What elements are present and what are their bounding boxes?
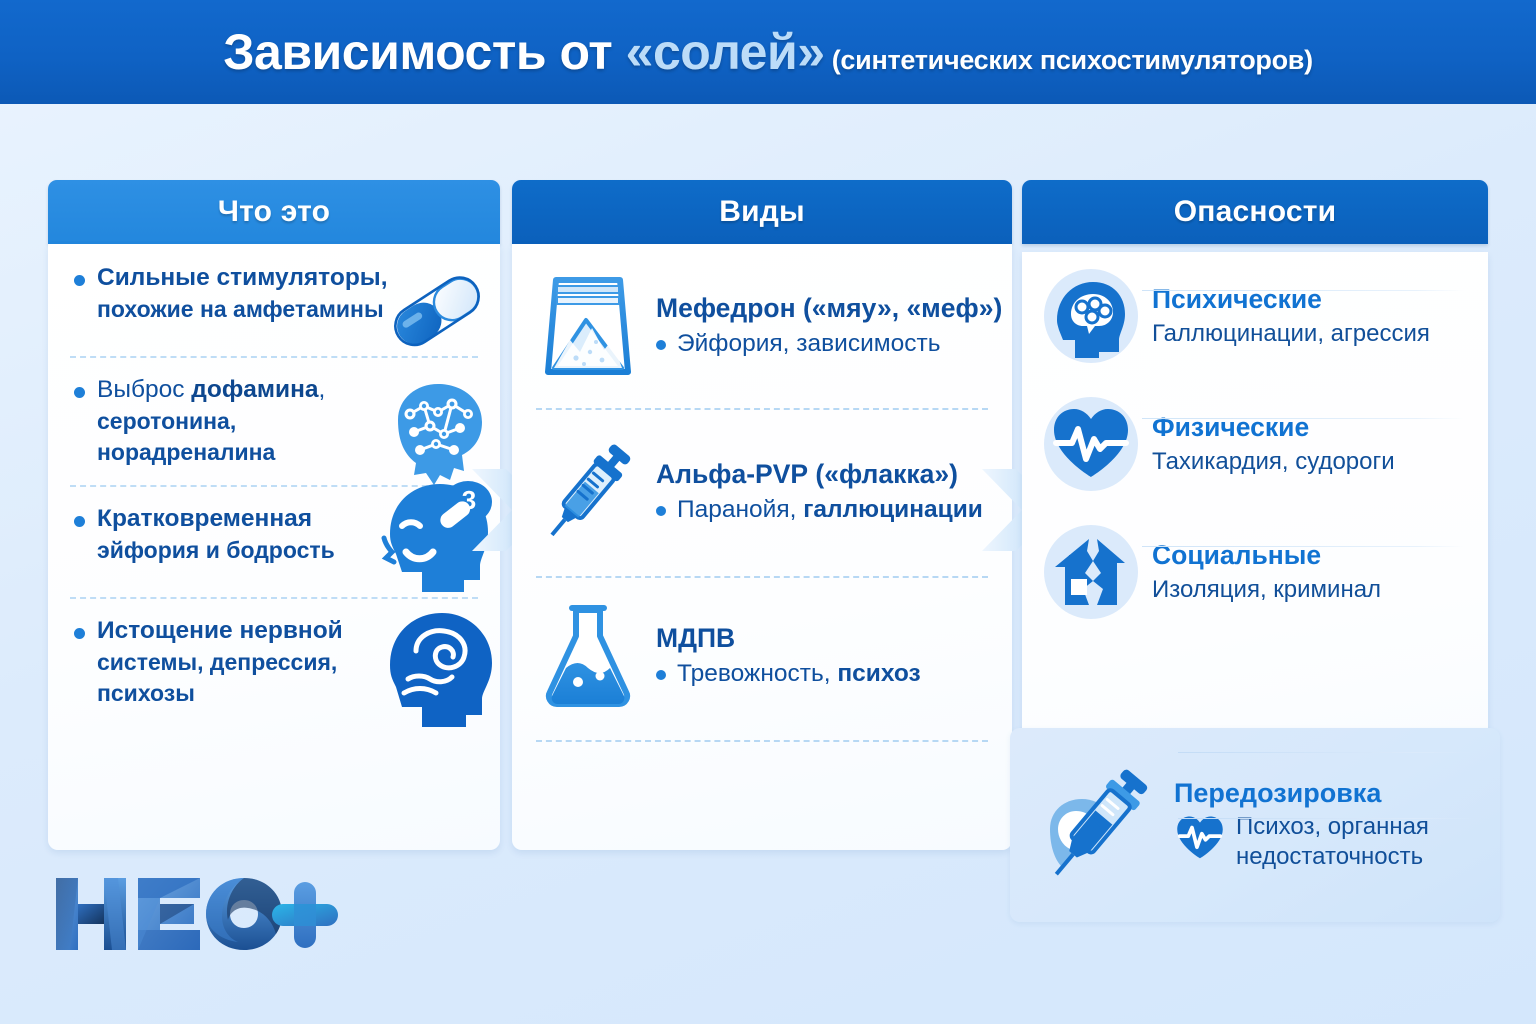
flask-icon [536,602,640,710]
list-item: Кратковременная эйфория и бодрость [48,485,500,597]
page-title: Зависимость от «солей» (синтетических пс… [223,23,1313,81]
list-item: Сильные стимуляторы, похожие на амфетами… [48,244,500,356]
list-item: Истощение нервной системы, депрессия, пс… [48,597,500,726]
title-subtitle-text: (синтетических психостимуляторов) [825,45,1313,75]
risk-description: Изоляция, криминал [1152,575,1468,605]
column-kinds: Виды [512,180,1012,850]
column-body-what-is-it: Сильные стимуляторы, похожие на амфетами… [48,244,500,850]
list-item: Выброс дофамина, серотонина, норадренали… [48,356,500,485]
overdose-panel: Передозировка Психоз, органная недостато… [1010,728,1500,922]
list-item-text: МДПВ Тревожность, психоз [656,623,990,690]
column-header-label: Что это [218,195,330,229]
bullet-dot-icon [74,275,85,286]
list-item-text: Мефедрон («мяу», «меф») Эйфория, зависим… [656,293,1002,360]
risk-description: Тахикардия, судороги [1152,447,1468,477]
kind-effect-prefix: Тревожность, [677,660,837,687]
title-quoted-text: «солей» [626,24,825,80]
list-item-line1: Кратковременная [97,505,312,532]
column-header-kinds: Виды [512,180,1012,244]
overdose-desc-line2: недостаточность [1236,843,1423,870]
bullet-dot-icon [656,506,666,516]
risk-title: Физические [1152,412,1468,443]
bullet-dot-icon [74,387,85,398]
divider [1142,546,1464,547]
kind-name: Альфа-PVP («флакка») [656,459,990,490]
column-header-label: Опасности [1174,195,1337,229]
kind-effect-prefix: Паранойя, [677,496,803,523]
list-item-line2: похожие на амфетамины [97,294,388,324]
column-body-kinds: Мефедрон («мяу», «меф») Эйфория, зависим… [512,244,1012,850]
powder-baggie-icon [536,270,640,382]
heart-pulse-icon [1044,397,1138,491]
list-item: Альфа-PVP («флакка») Паранойя, галлюцина… [512,408,1012,576]
kind-effects: Тревожность, психоз [656,659,990,690]
list-item-line1-bold: дофамина [191,376,318,403]
kind-name-alias: («мяу», «меф») [796,293,1003,323]
list-item: Социальные Изоляция, криминал [1022,508,1488,636]
list-item-text: Альфа-PVP («флакка») Паранойя, галлюцина… [656,459,990,526]
divider [1178,818,1474,819]
broken-house-icon [1044,525,1138,619]
kind-name-bold: Альфа-PVP [656,459,808,489]
head-brain-icon [1044,269,1138,363]
neo-plus-logo[interactable] [48,868,338,960]
bullet-dot-icon [74,628,85,639]
risk-description: Галлюцинации, агрессия [1152,319,1468,349]
column-dangers: Опасности Психические Галлюцинации, агре… [1022,180,1488,850]
list-item-text: Сильные стимуляторы, похожие на амфетами… [97,262,388,325]
divider [1178,752,1474,753]
kind-effect-text: Тревожность, психоз [677,659,921,690]
list-item-line1-suffix: , [319,376,326,403]
risk-title: Социальные [1152,540,1468,571]
list-item-line1: Истощение нервной [97,617,343,644]
kind-effect-text: Паранойя, галлюцинации [677,495,983,526]
list-item: Мефедрон («мяу», «меф») Эйфория, зависим… [512,244,1012,408]
overdose-title: Передозировка [1174,778,1482,809]
bullet-dot-icon [656,670,666,680]
column-header-label: Виды [719,195,805,229]
list-item-text: Истощение нервной системы, депрессия, пс… [97,615,412,708]
list-item-text: Социальные Изоляция, криминал [1152,540,1468,605]
list-item: МДПВ Тревожность, психоз [512,576,1012,736]
list-item: Психические Галлюцинации, агрессия [1022,252,1488,380]
kind-effect-bold: галлюцинации [803,496,983,523]
kind-effects: Эйфория, зависимость [656,329,1002,360]
kind-name-bold: МДПВ [656,623,735,653]
column-header-dangers: Опасности [1022,180,1488,244]
divider [1142,290,1464,291]
list-item-line1-prefix: Выброс [97,376,191,403]
overdose-text: Передозировка Психоз, органная недостато… [1174,778,1482,872]
list-item-line2: системы, депрессия, психозы [97,647,412,708]
column-body-dangers: Психические Галлюцинации, агрессия Физич… [1022,252,1488,858]
kind-effects: Паранойя, галлюцинации [656,495,990,526]
bullet-dot-icon [656,340,666,350]
list-item-text: Выброс дофамина, серотонина, норадренали… [97,374,412,467]
title-main-text: Зависимость от [223,24,625,80]
list-item-text: Психические Галлюцинации, агрессия [1152,284,1468,349]
kind-name: Мефедрон («мяу», «меф») [656,293,1002,324]
list-item: Физические Тахикардия, судороги [1022,380,1488,508]
page-title-bar: Зависимость от «солей» (синтетических пс… [0,0,1536,104]
kind-effect-prefix: Эйфория, зависимость [677,330,940,357]
list-item-line2: серотонина, норадреналина [97,406,412,467]
list-item-text: Кратковременная эйфория и бодрость [97,503,335,566]
risk-title: Психические [1152,284,1468,315]
divider [512,740,1012,742]
kind-effect-text: Эйфория, зависимость [677,329,940,360]
overdose-description-text: Психоз, органная недостаточность [1236,812,1429,872]
list-item-text: Физические Тахикардия, судороги [1152,412,1468,477]
syringe-icon [536,434,640,550]
column-header-what-is-it: Что это [48,180,500,244]
kind-effect-bold: психоз [837,660,920,687]
list-item-line2: эйфория и бодрость [97,535,335,565]
kind-name-bold: Мефедрон [656,293,796,323]
syringe-overdose-icon [1032,757,1164,893]
kind-name: МДПВ [656,623,990,654]
kind-name-alias: («флакка») [808,459,958,489]
bullet-dot-icon [74,516,85,527]
list-item-line1: Сильные стимуляторы, [97,264,388,291]
column-what-is-it: Что это Сильные стимуляторы, похожие на … [48,180,500,850]
overdose-description: Психоз, органная недостаточность [1174,812,1482,872]
divider [1142,418,1464,419]
heart-pulse-small-icon [1174,814,1226,870]
